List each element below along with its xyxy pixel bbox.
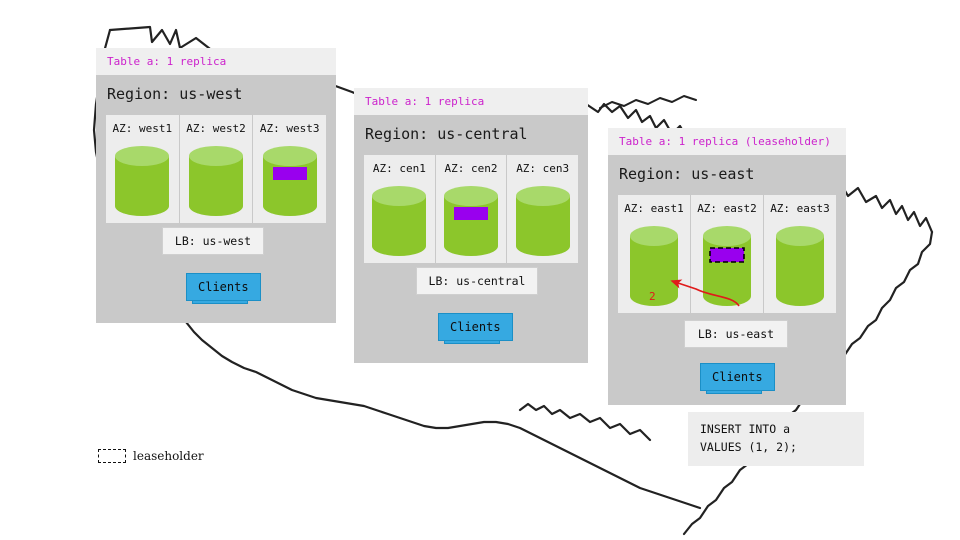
- region-header-us-west: Table a: 1 replica: [96, 48, 336, 75]
- cylinder-east3: [774, 224, 826, 308]
- clients-stack-us-central[interactable]: Clients: [438, 313, 513, 341]
- az-cell-cen2[interactable]: AZ: cen2: [436, 155, 508, 263]
- region-panel-us-east: Table a: 1 replica (leaseholder) Region:…: [608, 128, 846, 405]
- region-title-us-central: Region: us-central: [354, 115, 588, 143]
- cylinder-cen2: [442, 184, 500, 258]
- region-panel-us-west: Table a: 1 replica Region: us-west AZ: w…: [96, 48, 336, 323]
- cylinder-cen3: [514, 184, 572, 258]
- clients-stack-us-east[interactable]: Clients: [700, 363, 775, 391]
- replica-band-west3: [273, 167, 307, 180]
- cylinder-west2: [187, 144, 245, 218]
- az-label-west1: AZ: west1: [106, 122, 179, 135]
- az-cell-west1[interactable]: AZ: west1: [106, 115, 180, 223]
- cylinder-west3: [261, 144, 319, 218]
- legend-leaseholder: leaseholder: [98, 449, 204, 463]
- region-body-us-central: Region: us-central AZ: cen1 AZ: cen2: [354, 115, 588, 363]
- az-cell-west2[interactable]: AZ: west2: [180, 115, 254, 223]
- clients-button-us-west[interactable]: Clients: [186, 273, 261, 301]
- az-label-west2: AZ: west2: [180, 122, 253, 135]
- az-label-east3: AZ: east3: [764, 202, 836, 215]
- sql-statement-box: INSERT INTO a VALUES (1, 2);: [688, 412, 864, 466]
- az-label-east1: AZ: east1: [618, 202, 690, 215]
- lb-box-us-west[interactable]: LB: us-west: [162, 227, 264, 255]
- region-header-us-east: Table a: 1 replica (leaseholder): [608, 128, 846, 155]
- az-label-west3: AZ: west3: [253, 122, 326, 135]
- region-body-us-east: Region: us-east AZ: east1 AZ: east2: [608, 155, 846, 405]
- leaseholder-band-east2: [710, 248, 744, 262]
- lb-box-us-east[interactable]: LB: us-east: [684, 320, 788, 348]
- az-cell-east2[interactable]: AZ: east2: [691, 195, 764, 313]
- clients-button-us-central[interactable]: Clients: [438, 313, 513, 341]
- cylinder-west1: [113, 144, 171, 218]
- az-cell-cen1[interactable]: AZ: cen1: [364, 155, 436, 263]
- lb-box-us-central[interactable]: LB: us-central: [416, 267, 538, 295]
- az-label-cen3: AZ: cen3: [507, 162, 578, 175]
- az-label-cen1: AZ: cen1: [364, 162, 435, 175]
- region-title-us-east: Region: us-east: [608, 155, 846, 183]
- region-body-us-west: Region: us-west AZ: west1 AZ: west2: [96, 75, 336, 323]
- clients-stack-us-west[interactable]: Clients: [186, 273, 261, 301]
- dashed-rect-icon: [98, 449, 126, 463]
- az-cell-cen3[interactable]: AZ: cen3: [507, 155, 578, 263]
- az-strip-us-west: AZ: west1 AZ: west2: [106, 115, 326, 223]
- diagram-canvas: Table a: 1 replica Region: us-west AZ: w…: [0, 0, 960, 540]
- region-panel-us-central: Table a: 1 replica Region: us-central AZ…: [354, 88, 588, 363]
- az-cell-west3[interactable]: AZ: west3: [253, 115, 326, 223]
- legend-label: leaseholder: [133, 449, 204, 463]
- region-header-us-central: Table a: 1 replica: [354, 88, 588, 115]
- az-label-cen2: AZ: cen2: [436, 162, 507, 175]
- clients-button-us-east[interactable]: Clients: [700, 363, 775, 391]
- az-label-east2: AZ: east2: [691, 202, 763, 215]
- replica-band-cen2: [454, 207, 488, 220]
- az-cell-east3[interactable]: AZ: east3: [764, 195, 836, 313]
- cylinder-east2: [701, 224, 753, 308]
- region-title-us-west: Region: us-west: [96, 75, 336, 103]
- az-strip-us-central: AZ: cen1 AZ: cen2: [364, 155, 578, 263]
- arrow-step-label: 2: [649, 290, 656, 303]
- cylinder-cen1: [370, 184, 428, 258]
